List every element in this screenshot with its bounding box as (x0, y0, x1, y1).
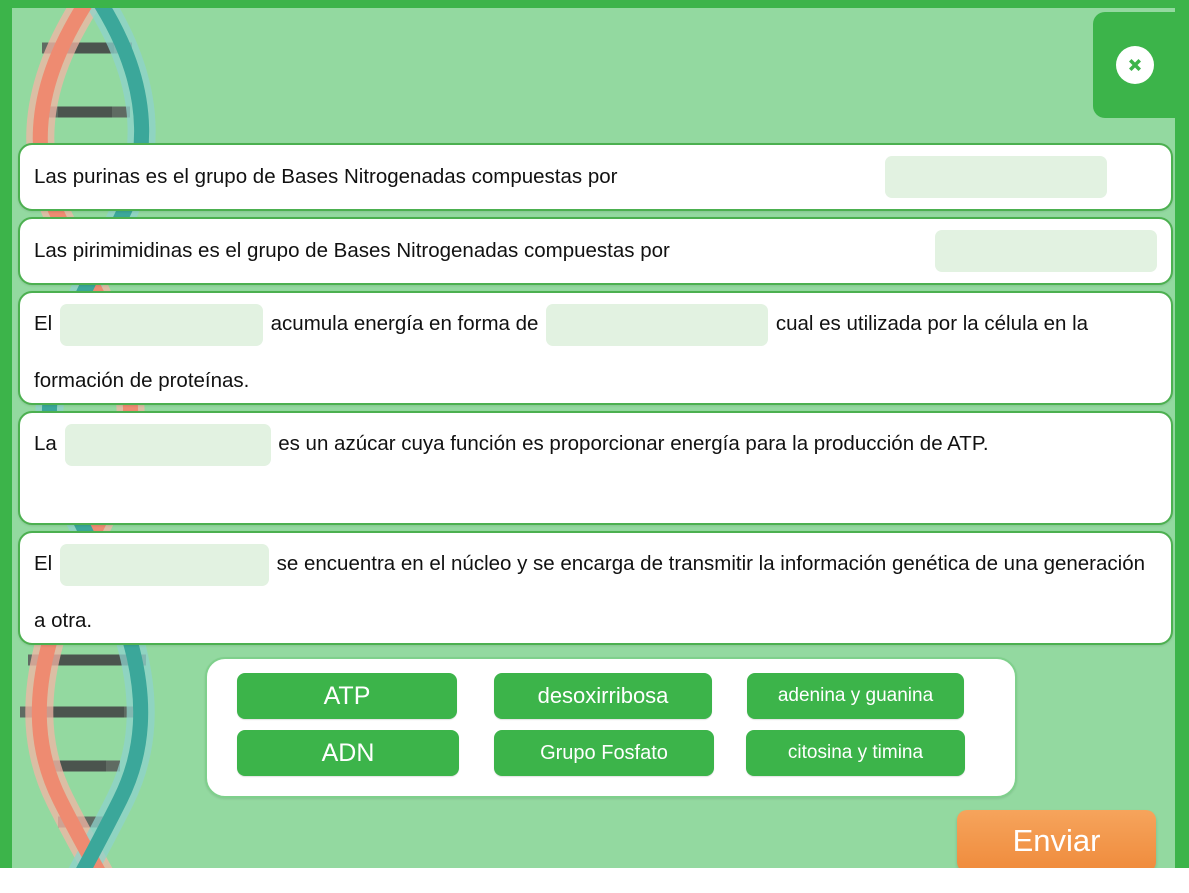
close-x-icon (1116, 46, 1154, 84)
close-button[interactable] (1093, 12, 1176, 118)
quiz-screen: Las purinas es el grupo de Bases Nitroge… (0, 0, 1189, 868)
submit-button[interactable]: Enviar (957, 810, 1156, 868)
answer-chip[interactable]: desoxirribosa (494, 673, 712, 719)
submit-button-label: Enviar (1013, 823, 1101, 859)
question-text: Las pirimimidinas es el grupo de Bases N… (34, 227, 670, 275)
frame-top-border (0, 0, 1189, 8)
question-text: El (34, 552, 58, 575)
question-card: El se encuentra en el núcleo y se encarg… (18, 531, 1173, 645)
answer-bank: ATPdesoxirribosaadenina y guaninaADNGrup… (205, 657, 1017, 798)
answer-chip-label: citosina y timina (788, 742, 923, 764)
answer-chip[interactable]: citosina y timina (746, 730, 965, 776)
question-card: El acumula energía en forma de cual es u… (18, 291, 1173, 405)
answer-chip[interactable]: ADN (237, 730, 459, 776)
frame-right-border (1175, 0, 1189, 868)
answer-chip[interactable]: ATP (237, 673, 457, 719)
question-text: es un azúcar cuya función es proporciona… (278, 432, 988, 455)
answer-chip-label: Grupo Fosfato (540, 742, 668, 765)
question-text: El (34, 312, 58, 335)
question-text: acumula energía en forma de (271, 312, 545, 335)
question-card: Las purinas es el grupo de Bases Nitroge… (18, 143, 1173, 211)
answer-blank[interactable] (935, 230, 1157, 272)
frame-left-border (0, 0, 12, 868)
question-text: Las purinas es el grupo de Bases Nitroge… (34, 153, 617, 201)
answer-chip-label: adenina y guanina (778, 685, 933, 707)
question-card: Las pirimimidinas es el grupo de Bases N… (18, 217, 1173, 285)
answer-blank[interactable] (65, 424, 271, 466)
answer-chip-label: ATP (324, 682, 371, 711)
answer-blank[interactable] (885, 156, 1107, 198)
answer-chip-row: ADNGrupo Fosfatocitosina y timina (237, 730, 985, 776)
answer-blank[interactable] (546, 304, 768, 346)
page-background-below (0, 868, 1189, 893)
answer-blank[interactable] (60, 544, 269, 586)
answer-chip-label: desoxirribosa (538, 683, 669, 709)
question-text: La (34, 432, 63, 455)
question-card: La es un azúcar cuya función es proporci… (18, 411, 1173, 525)
answer-chip[interactable]: adenina y guanina (747, 673, 964, 719)
answer-chip-row: ATPdesoxirribosaadenina y guanina (237, 673, 985, 719)
answer-chip[interactable]: Grupo Fosfato (494, 730, 714, 776)
answer-blank[interactable] (60, 304, 263, 346)
question-list: Las purinas es el grupo de Bases Nitroge… (18, 143, 1173, 651)
answer-chip-label: ADN (322, 739, 375, 768)
